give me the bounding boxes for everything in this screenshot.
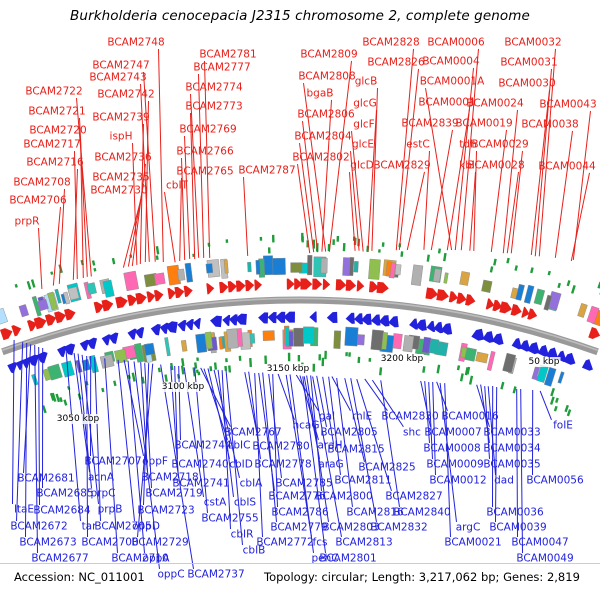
gene-label-bcam2825[interactable]: BCAM2825 [358,463,415,474]
gene-label-bcam2787[interactable]: BCAM2787 [238,166,295,177]
gene-label-bcam2779[interactable]: BCAM2779 [270,523,327,534]
gene-label-prpr[interactable]: prpR [15,217,40,228]
gene-label-bcam2808[interactable]: BCAM2808 [298,72,355,83]
gene-label-cbic[interactable]: cbIC [228,441,251,452]
gene-label-bcam2739[interactable]: BCAM2739 [92,113,149,124]
gene-label-ltae[interactable]: ltaE [14,505,34,516]
gene-label-bcam0034[interactable]: BCAM0034 [483,444,540,455]
gene-label-bcam2723[interactable]: BCAM2723 [137,506,194,517]
gene-label-cbia[interactable]: cbIA [240,479,263,490]
gene-label-bcam0030[interactable]: BCAM0030 [498,79,555,90]
gene-label-bcam2802[interactable]: BCAM2802 [292,153,349,164]
gene-label-bcam0007[interactable]: BCAM0007 [424,428,481,439]
gene-label-oppf[interactable]: oppF [142,457,168,468]
gene-label-bcam0036[interactable]: BCAM0036 [486,508,543,519]
gene-label-bcam2730[interactable]: BCAM2730 [90,186,147,197]
gene-label-bcam0016[interactable]: BCAM0016 [441,412,498,423]
gene-label-bcam2707[interactable]: BCAM2707 [84,457,141,468]
gene-label-bcam2716[interactable]: BCAM2716 [26,158,83,169]
gene-label-bcam2684[interactable]: BCAM2684 [33,506,90,517]
gene-label-bcam0056[interactable]: BCAM0056 [526,476,583,487]
gene-label-glcb[interactable]: glcB [355,77,378,88]
gene-label-bcam2827[interactable]: BCAM2827 [385,492,442,503]
gene-label-bcam2685[interactable]: BCAM2685 [36,489,93,500]
gene-label-bcam0012[interactable]: BCAM0012 [429,476,486,487]
gene-label-bcam2681[interactable]: BCAM2681 [17,474,74,485]
gene-label-bcam0009[interactable]: BCAM0009 [426,460,483,471]
gene-label-bcam2721[interactable]: BCAM2721 [28,107,85,118]
gene-label-bcam2813[interactable]: BCAM2813 [335,538,392,549]
gene-label-bcam2706[interactable]: BCAM2706 [9,196,66,207]
gene-label-bcam2809[interactable]: BCAM2809 [300,50,357,61]
gene-label-fcs[interactable]: fcs [313,538,328,549]
gene-label-bcam2780[interactable]: BCAM2780 [252,442,309,453]
gene-label-bcam0004[interactable]: BCAM0004 [422,57,479,68]
gene-label-glcg[interactable]: glcG [353,99,377,110]
gene-label-bcam2744[interactable]: BCAM2744 [174,441,231,452]
gene-label-bcam2804[interactable]: BCAM2804 [294,132,351,143]
gene-label-bcam2742[interactable]: BCAM2742 [97,90,154,101]
gene-label-bcam0008[interactable]: BCAM0008 [423,444,480,455]
gene-label-bcam2815[interactable]: BCAM2815 [327,445,384,456]
gene-label-dad[interactable]: dad [494,476,514,487]
gene-label-bcam0019[interactable]: BCAM0019 [455,119,512,130]
gene-label-bcam0035[interactable]: BCAM0035 [483,460,540,471]
gene-label-bcam2777[interactable]: BCAM2777 [193,63,250,74]
gene-label-bcam2769[interactable]: BCAM2769 [179,125,236,136]
gene-label-bcam0006[interactable]: BCAM0006 [427,38,484,49]
gene-label-estc[interactable]: estC [406,140,429,151]
gene-label-bcam2729[interactable]: BCAM2729 [131,538,188,549]
scale-tick-3050: 3050 kbp [56,414,100,424]
gene-label-argc[interactable]: argC [456,523,481,534]
gene-label-oppc[interactable]: oppC [157,570,184,581]
gene-label-bcam2736[interactable]: BCAM2736 [94,153,151,164]
gene-label-bcam2811[interactable]: BCAM2811 [334,476,391,487]
gene-label-arag[interactable]: araG [318,460,343,471]
gene-label-bcam0047[interactable]: BCAM0047 [511,538,568,549]
gene-label-hcag[interactable]: hcaG [293,421,320,432]
gene-label-bcam2748[interactable]: BCAM2748 [107,38,164,49]
gene-label-prpc[interactable]: prpC [91,489,116,500]
gene-label-bcam2740[interactable]: BCAM2740 [171,460,228,471]
gene-label-bcam2773[interactable]: BCAM2773 [185,102,242,113]
gene-label-bcam2720[interactable]: BCAM2720 [29,126,86,137]
gene-label-cbit[interactable]: cbIT [166,181,188,192]
gene-label-bcam0024[interactable]: BCAM0024 [466,99,523,110]
gene-label-bcam0033[interactable]: BCAM0033 [483,428,540,439]
gene-label-bcam0043[interactable]: BCAM0043 [539,100,596,111]
gene-label-bcam2832[interactable]: BCAM2832 [370,523,427,534]
gene-label-csta[interactable]: cstA [204,498,227,509]
gene-label-bcam0032[interactable]: BCAM0032 [504,38,561,49]
scale-tick-3200: 3200 kbp [380,354,424,364]
gene-label-glcd[interactable]: glcD [350,161,373,172]
gene-label-bcam2722[interactable]: BCAM2722 [25,87,82,98]
gene-label-bcam2719[interactable]: BCAM2719 [145,489,202,500]
gene-label-glce[interactable]: glcE [352,140,374,151]
gene-label-rhle[interactable]: rhlE [352,412,372,423]
gene-label-bcam2700[interactable]: BCAM2700 [81,538,138,549]
gene-label-bcam2778[interactable]: BCAM2778 [254,460,311,471]
gene-label-bcam0044[interactable]: BCAM0044 [538,162,595,173]
gene-label-bcam2735[interactable]: BCAM2735 [92,173,149,184]
gene-label-bcam0028[interactable]: BCAM0028 [467,161,524,172]
gene-label-isph[interactable]: ispH [110,132,133,143]
gene-label-bcam2673[interactable]: BCAM2673 [19,538,76,549]
gene-label-gal[interactable]: gal [319,412,335,423]
gene-label-shc[interactable]: shc [403,428,421,439]
gene-label-bcam0031[interactable]: BCAM0031 [500,58,557,69]
genome-summary-text: Topology: circular; Length: 3,217,062 bp… [264,570,580,584]
gene-label-bcam2830[interactable]: BCAM2830 [381,412,438,423]
gene-label-cbir[interactable]: cbIR [231,530,254,541]
gene-label-glcf[interactable]: glcF [353,120,374,131]
gene-label-bcam2806[interactable]: BCAM2806 [297,110,354,121]
gene-label-bcam2774[interactable]: BCAM2774 [185,83,242,94]
gene-label-bcam2708[interactable]: BCAM2708 [13,178,70,189]
scale-tick-50: 50 kbp [528,357,561,367]
gene-label-prpb[interactable]: prpB [98,505,123,516]
gene-label-bcam0001a[interactable]: BCAM0001A [420,77,485,88]
gene-label-bcam2840[interactable]: BCAM2840 [393,508,450,519]
gene-label-bcam2737[interactable]: BCAM2737 [187,570,244,581]
gene-label-bcam2755[interactable]: BCAM2755 [201,514,258,525]
gene-label-bcam2766[interactable]: BCAM2766 [176,147,233,158]
gene-label-bcam2826[interactable]: BCAM2826 [367,58,424,69]
gene-label-oppd[interactable]: oppD [132,522,160,533]
gene-label-bcam2829[interactable]: BCAM2829 [373,161,430,172]
gene-label-bcam2741[interactable]: BCAM2741 [172,479,229,490]
gene-label-foie[interactable]: foIE [553,421,573,432]
gene-label-bcam2839[interactable]: BCAM2839 [401,119,458,130]
leader-line [90,356,91,456]
gene-label-bcam2805[interactable]: BCAM2805 [320,428,377,439]
gene-label-bcam0021[interactable]: BCAM0021 [444,538,501,549]
gene-label-bcam0038[interactable]: BCAM0038 [521,120,578,131]
leader-line [42,348,43,488]
gene-label-bcam2717[interactable]: BCAM2717 [23,140,80,151]
gene-label-bcam2743[interactable]: BCAM2743 [89,73,146,84]
scale-tick-3100: 3100 kbp [161,382,205,392]
gene-label-bcam2747[interactable]: BCAM2747 [92,61,149,72]
genome-map-viewer: Burkholderia cenocepacia J2315 chromosom… [0,0,600,600]
gene-label-cbis[interactable]: cbIS [234,498,256,509]
gene-label-cbid[interactable]: cbID [229,460,253,471]
gene-label-bcam2767[interactable]: BCAM2767 [224,428,281,439]
gene-label-bcam2672[interactable]: BCAM2672 [10,522,67,533]
gene-label-bcam0029[interactable]: BCAM0029 [471,140,528,151]
footer-divider [0,563,600,564]
gene-label-bcam0039[interactable]: BCAM0039 [489,523,546,534]
gene-label-bcam2765[interactable]: BCAM2765 [176,167,233,178]
gene-label-bcam2800[interactable]: BCAM2800 [315,492,372,503]
scale-tick-3150: 3150 kbp [266,364,310,374]
gene-label-bcam2772[interactable]: BCAM2772 [256,538,313,549]
gene-label-bcam2786[interactable]: BCAM2786 [271,508,328,519]
gene-label-bcam2781[interactable]: BCAM2781 [199,50,256,61]
accession-text: Accession: NC_011001 [14,570,145,584]
gene-label-bcam2785[interactable]: BCAM2785 [275,479,332,490]
gene-label-bgab[interactable]: bgaB [307,89,334,100]
gene-label-acna[interactable]: acnA [88,473,114,484]
gene-label-bcam2828[interactable]: BCAM2828 [362,38,419,49]
